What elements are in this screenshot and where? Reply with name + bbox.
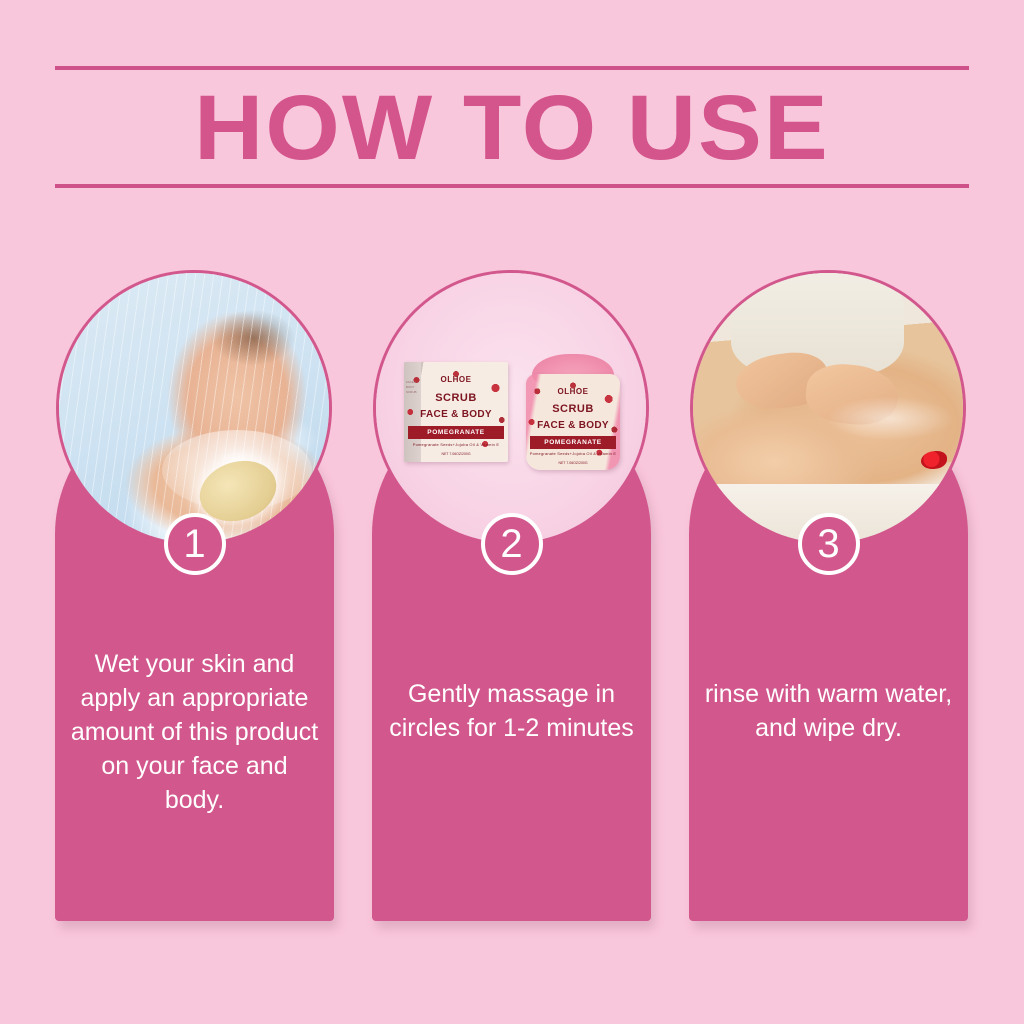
box-side-text: FACE & BODY SCRUB	[406, 380, 421, 395]
shower-photo	[59, 273, 329, 543]
box-ingredients: Pomegranate Seeds+Jojoba Oil & Vitamin E	[404, 442, 508, 447]
step-number-badge-1: 1	[164, 513, 226, 575]
step-card-3: 3 rinse with warm water, and wipe dry.	[689, 395, 968, 921]
product-jar: OLHOE SCRUB FACE & BODY POMEGRANATE Pome…	[524, 354, 622, 470]
jar-body: OLHOE SCRUB FACE & BODY POMEGRANATE Pome…	[526, 374, 620, 470]
product-photo: FACE & BODY SCRUB OLHOE SCRUB FACE & BOD…	[376, 273, 646, 543]
step-text-1: Wet your skin and apply an appropriate a…	[69, 647, 320, 817]
jar-variant-banner: POMEGRANATE	[530, 436, 617, 449]
step-card-1: 1 Wet your skin and apply an appropriate…	[55, 395, 334, 921]
jar-ingredients: Pomegranate Seeds+Jojoba Oil & Vitamin E	[526, 451, 620, 456]
jar-brand: OLHOE	[526, 387, 620, 396]
step-number-badge-2: 2	[481, 513, 543, 575]
steps-container: 1 Wet your skin and apply an appropriate…	[0, 0, 1024, 1024]
box-net-weight: NET 7.06OZ/200G	[404, 452, 508, 456]
red-flower	[921, 451, 947, 469]
step-text-3: rinse with warm water, and wipe dry.	[703, 677, 954, 745]
skin-highlight	[828, 397, 952, 440]
jar-line1: SCRUB	[526, 403, 620, 415]
jar-net-weight: NET 7.06OZ/200G	[526, 461, 620, 465]
step-card-2: FACE & BODY SCRUB OLHOE SCRUB FACE & BOD…	[372, 395, 651, 921]
massage-photo	[693, 273, 963, 543]
step-number-badge-3: 3	[798, 513, 860, 575]
infographic-page: HOW TO USE 1 Wet your skin and apply an …	[0, 0, 1024, 1024]
jar-line2: FACE & BODY	[526, 420, 620, 431]
product-group: FACE & BODY SCRUB OLHOE SCRUB FACE & BOD…	[396, 354, 626, 472]
product-box: FACE & BODY SCRUB OLHOE SCRUB FACE & BOD…	[404, 362, 508, 462]
box-variant-banner: POMEGRANATE	[408, 426, 504, 439]
box-line2: FACE & BODY	[404, 409, 508, 420]
step-text-2: Gently massage in circles for 1-2 minute…	[386, 677, 637, 745]
